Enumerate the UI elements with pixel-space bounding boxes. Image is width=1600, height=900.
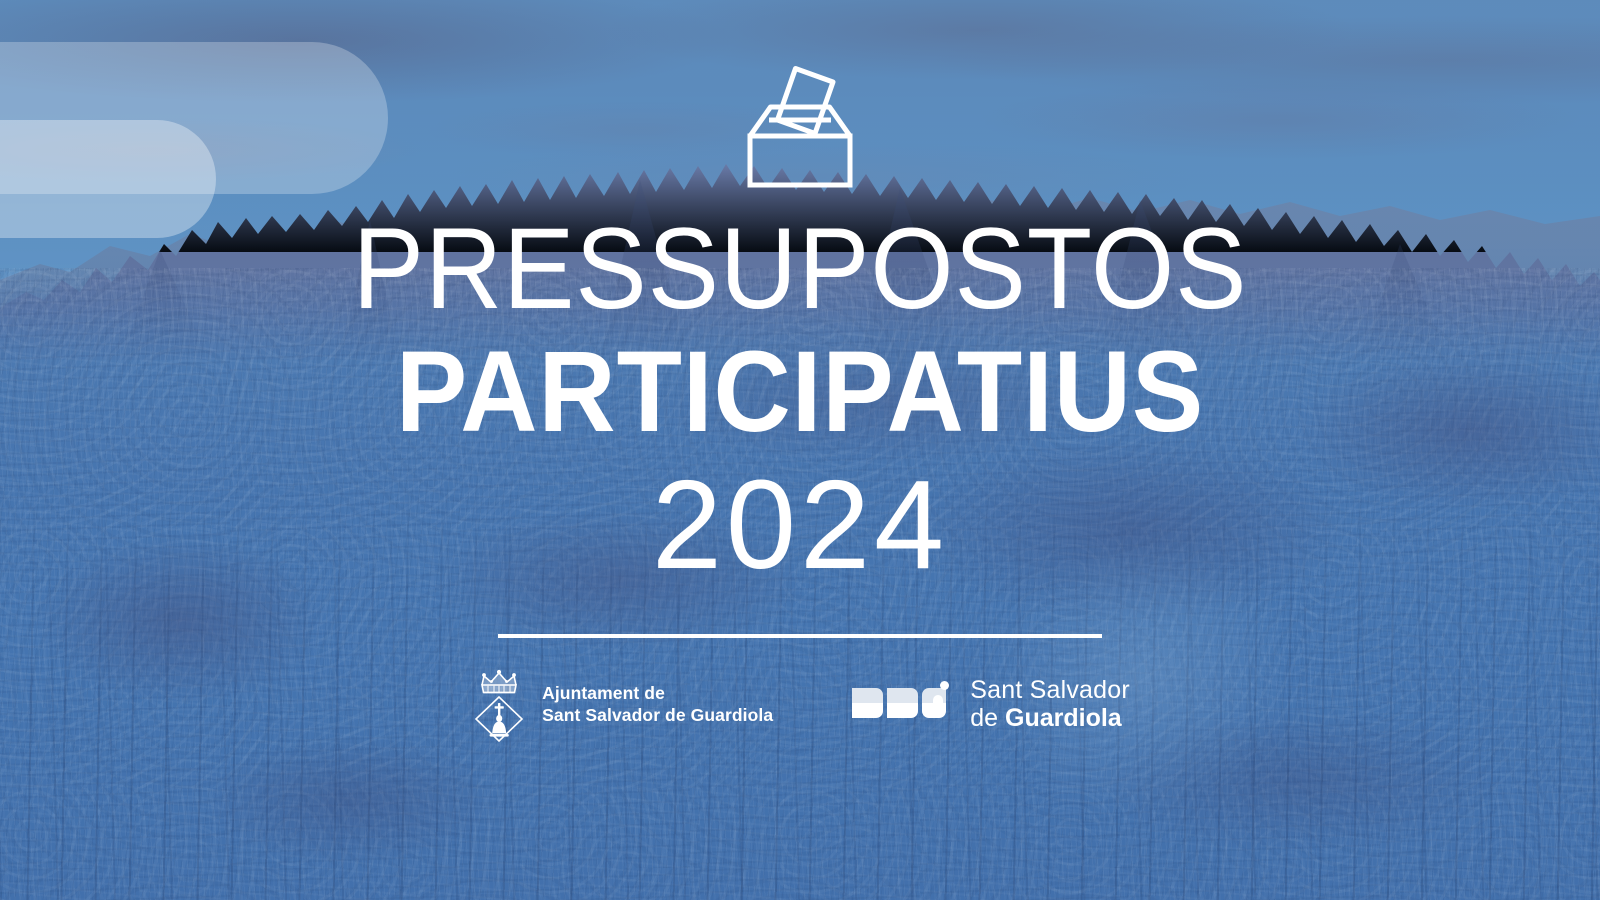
ajuntament-line-2: Sant Salvador de Guardiola [542,704,773,726]
poster-content: PRESSUPOSTOS PARTICIPATIUS 2024 [0,0,1600,900]
poster-titles: PRESSUPOSTOS PARTICIPATIUS 2024 [319,212,1281,588]
ssg-line-2: de Guardiola [970,704,1130,733]
title-line-2: PARTICIPATIUS [353,335,1248,450]
ssg-line-2-light: de [970,704,1005,732]
poster-canvas: PRESSUPOSTOS PARTICIPATIUS 2024 [0,0,1600,900]
logos-row: Ajuntament de Sant Salvador de Guardiola [0,666,1600,742]
ajuntament-logo: Ajuntament de Sant Salvador de Guardiola [470,666,773,742]
ssg-line-1: Sant Salvador [970,676,1130,705]
ballot-box-icon [745,58,855,190]
title-line-1: PRESSUPOSTOS [353,212,1248,327]
ajuntament-line-1: Ajuntament de [542,682,773,704]
ajuntament-wordmark: Ajuntament de Sant Salvador de Guardiola [542,682,773,726]
title-year: 2024 [319,462,1281,588]
crown-and-diamond-crest-icon [470,666,528,742]
ssg-wordmark: Sant Salvador de Guardiola [970,676,1130,733]
ssg-monogram-icon [849,681,957,727]
ssg-logo: Sant Salvador de Guardiola [849,676,1130,733]
divider-rule [498,634,1102,638]
ssg-line-2-bold: Guardiola [1005,704,1122,732]
